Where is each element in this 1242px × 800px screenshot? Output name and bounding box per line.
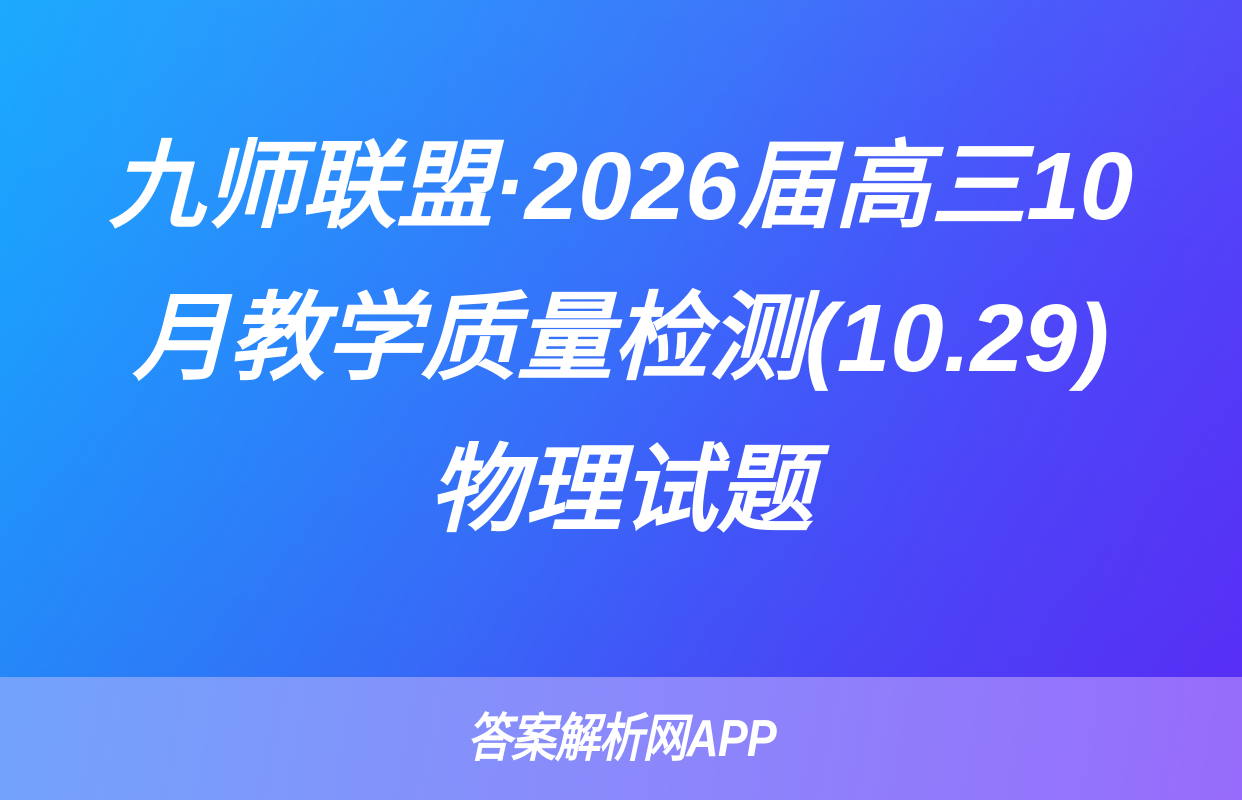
exam-cover-poster: 九师联盟·2026届高三10 月教学质量检测(10.29) 物理试题 答案解析网… [0,0,1242,800]
watermark-band: 答案解析网APP [0,677,1242,800]
app-watermark-label: 答案解析网APP [467,713,776,765]
hero-content: 九师联盟·2026届高三10 月教学质量检测(10.29) 物理试题 [0,0,1242,677]
page-title: 九师联盟·2026届高三10 月教学质量检测(10.29) 物理试题 [84,111,1159,567]
